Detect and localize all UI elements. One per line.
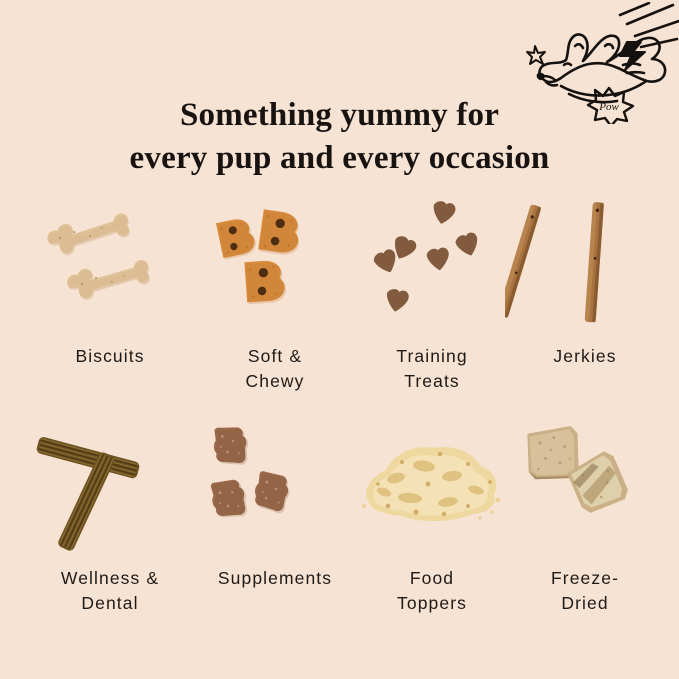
treat-1 <box>430 200 456 226</box>
category-jerkies[interactable]: Jerkies <box>505 196 665 418</box>
headline-line-2: every pup and every occasion <box>0 137 679 180</box>
chew-2 <box>258 209 303 256</box>
food-toppers-art <box>352 418 512 563</box>
dental-stick-2 <box>57 451 116 552</box>
chew-3 <box>244 259 287 304</box>
wellness-dental-art <box>30 418 190 563</box>
category-label: Jerkies <box>493 344 677 369</box>
chew-1 <box>216 216 258 260</box>
supplement-2 <box>253 471 291 515</box>
dental-stick-1 <box>36 436 141 479</box>
category-row-2: Wellness & Dental <box>0 418 679 640</box>
jerky-stick-1 <box>505 204 542 318</box>
category-row-1: Biscuits <box>0 196 679 418</box>
supplement-3 <box>207 475 251 523</box>
soft-chewy-art <box>195 196 355 341</box>
powder-pile <box>362 447 500 521</box>
category-label: Biscuits <box>18 344 202 369</box>
freeze-dried-art <box>505 418 665 563</box>
jerky-stick-2 <box>585 202 604 322</box>
pow-burst-label: Pow <box>598 101 619 113</box>
category-training-treats[interactable]: Training Treats <box>352 196 512 418</box>
biscuit-1 <box>45 205 134 261</box>
category-freeze-dried[interactable]: Freeze- Dried <box>505 418 665 640</box>
treat-4 <box>426 247 451 272</box>
category-grid: Biscuits <box>0 196 679 640</box>
promo-graphic: Something yummy for every pup and every … <box>0 0 679 679</box>
supplement-1 <box>211 424 251 469</box>
training-treats-art <box>352 196 512 341</box>
category-food-toppers[interactable]: Food Toppers <box>352 418 512 640</box>
jerkies-art <box>505 196 665 341</box>
headline-line-1: Something yummy for <box>180 97 499 133</box>
category-supplements[interactable]: Supplements <box>195 418 355 640</box>
biscuits-art <box>30 196 190 341</box>
treat-2 <box>454 231 482 259</box>
biscuit-2 <box>65 252 154 305</box>
category-label: Freeze- Dried <box>493 566 677 616</box>
category-wellness-dental[interactable]: Wellness & Dental <box>30 418 190 640</box>
flying-super-dog-doodle: Pow <box>523 2 679 124</box>
category-biscuits[interactable]: Biscuits <box>30 196 190 418</box>
category-label: Wellness & Dental <box>18 566 202 616</box>
category-soft-chewy[interactable]: Soft & Chewy <box>195 196 355 418</box>
supplements-art <box>195 418 355 563</box>
treat-6 <box>384 288 410 314</box>
